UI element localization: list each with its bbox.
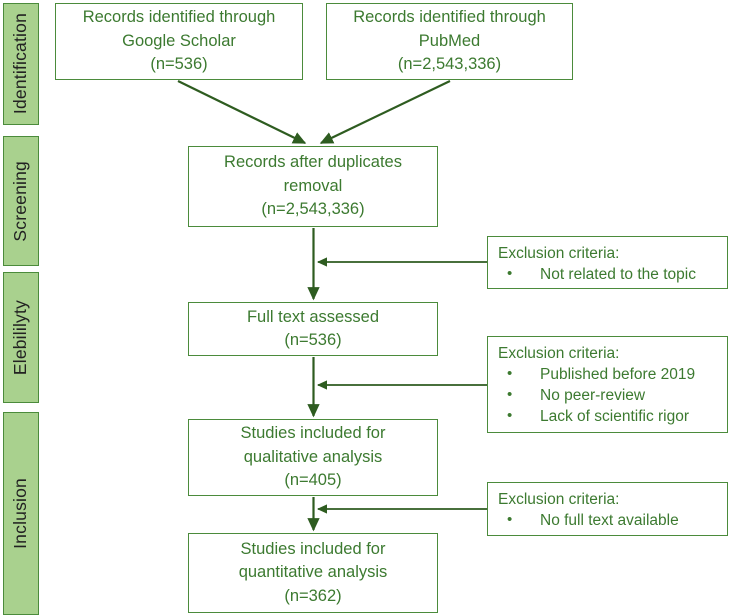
exclusion-list: No full text available xyxy=(498,510,719,531)
box-line-1: Records identified through xyxy=(83,6,276,29)
box-line-2: qualitative analysis xyxy=(244,446,383,469)
exclusion-title: Exclusion criteria: xyxy=(498,489,719,510)
exclusion-item: No peer-review xyxy=(498,385,719,406)
exclusion-item: Published before 2019 xyxy=(498,364,719,385)
box-records-pubmed: Records identified through PubMed (n=2,5… xyxy=(326,3,573,80)
box-line-1: Full text assessed xyxy=(247,306,379,329)
exclusion-title: Exclusion criteria: xyxy=(498,243,719,264)
stage-label-eligibility: Elebililyty xyxy=(12,300,30,375)
box-full-text-assessed: Full text assessed (n=536) xyxy=(188,302,438,356)
exclusion-item: Not related to the topic xyxy=(498,264,719,285)
box-line-1: Studies included for xyxy=(241,538,386,561)
stage-label-inclusion: Inclusion xyxy=(12,478,30,549)
exclusion-item: Lack of scientific rigor xyxy=(498,406,719,427)
exclusion-title: Exclusion criteria: xyxy=(498,343,719,364)
stage-chip-screening: Screening xyxy=(3,136,39,266)
stage-chip-identification: Identification xyxy=(3,3,39,125)
box-count: (n=2,543,336) xyxy=(398,53,501,76)
box-count: (n=2,543,336) xyxy=(261,198,364,221)
arrow-pubmed-to-duplicates xyxy=(321,81,450,143)
exclusion-list: Published before 2019 No peer-review Lac… xyxy=(498,364,719,427)
prisma-flow-diagram: Identification Screening Elebililyty Inc… xyxy=(0,0,738,615)
box-count: (n=536) xyxy=(284,329,341,352)
box-count: (n=536) xyxy=(150,53,207,76)
exclusion-item: No full text available xyxy=(498,510,719,531)
box-line-1: Studies included for xyxy=(241,422,386,445)
box-records-google-scholar: Records identified through Google Schola… xyxy=(55,3,303,80)
stage-label-screening: Screening xyxy=(12,161,30,242)
box-line-1: Records identified through xyxy=(353,6,546,29)
box-line-1: Records after duplicates xyxy=(224,151,402,174)
exclusion-box-full-text: Exclusion criteria: No full text availab… xyxy=(487,482,728,536)
box-line-2: removal xyxy=(284,175,343,198)
box-studies-quantitative-analysis: Studies included for quantitative analys… xyxy=(188,533,438,613)
box-records-after-duplicates-removal: Records after duplicates removal (n=2,54… xyxy=(188,146,438,227)
box-line-2: PubMed xyxy=(419,30,480,53)
box-studies-qualitative-analysis: Studies included for qualitative analysi… xyxy=(188,419,438,496)
box-line-2: quantitative analysis xyxy=(239,561,388,584)
exclusion-box-topic: Exclusion criteria: Not related to the t… xyxy=(487,236,728,289)
box-count: (n=405) xyxy=(284,469,341,492)
stage-label-identification: Identification xyxy=(12,13,30,114)
box-line-2: Google Scholar xyxy=(122,30,236,53)
exclusion-box-quality: Exclusion criteria: Published before 201… xyxy=(487,336,728,433)
stage-chip-inclusion: Inclusion xyxy=(3,412,39,615)
stage-chip-eligibility: Elebililyty xyxy=(3,272,39,403)
exclusion-list: Not related to the topic xyxy=(498,264,719,285)
box-count: (n=362) xyxy=(284,585,341,608)
arrow-google-scholar-to-duplicates xyxy=(178,81,305,143)
